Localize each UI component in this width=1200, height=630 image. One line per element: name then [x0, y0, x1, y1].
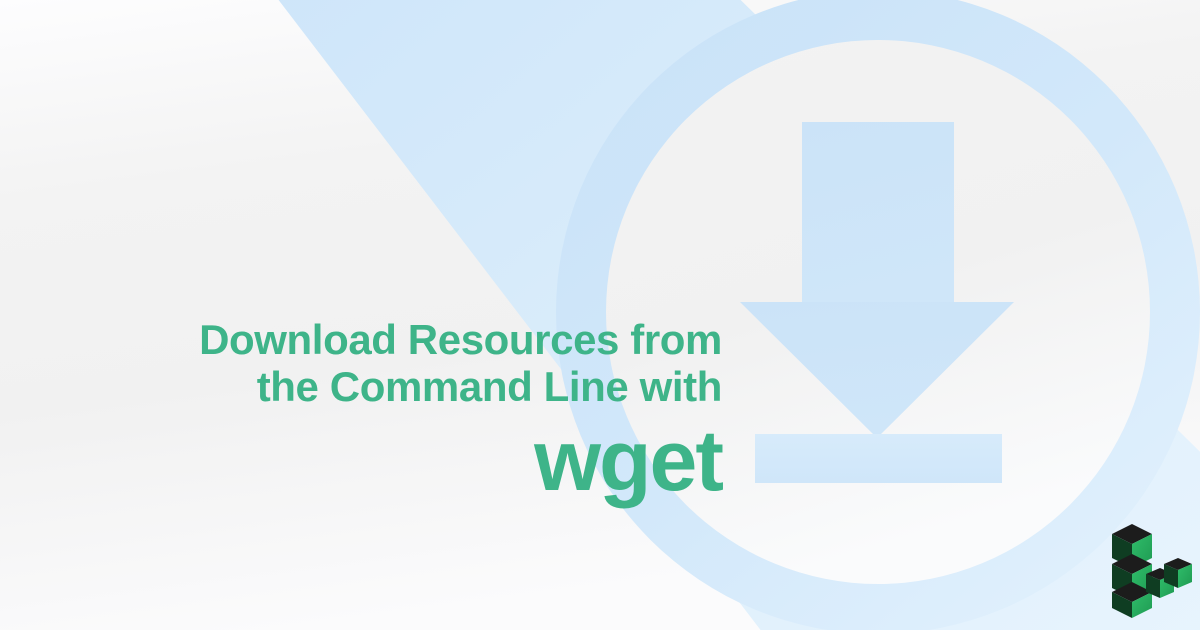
cube-logo: [1108, 518, 1194, 622]
cube-logo-svg: [1108, 518, 1194, 622]
download-arrow-shaft: [802, 122, 954, 304]
headline-line-1: Download Resources from: [0, 316, 722, 363]
download-arrow-tray: [755, 434, 1002, 483]
background-svg: [0, 0, 1200, 630]
background-artwork: [0, 0, 1200, 630]
headline-line-2: the Command Line with: [0, 363, 722, 410]
cube-arm-outer: [1164, 558, 1192, 588]
headline-block: Download Resources from the Command Line…: [0, 316, 722, 504]
page-title: Download Resources from the Command Line…: [0, 316, 722, 504]
banner-root: Download Resources from the Command Line…: [0, 0, 1200, 630]
wordmark-wget: wget: [0, 418, 722, 504]
